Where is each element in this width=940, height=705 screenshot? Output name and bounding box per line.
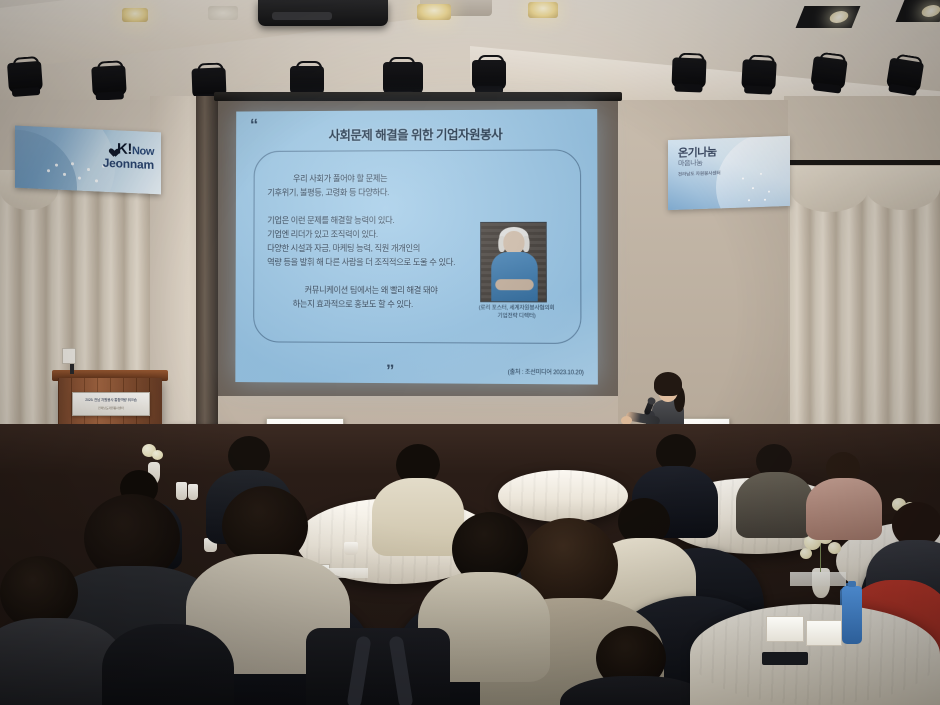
curtain-valance-right bbox=[866, 166, 940, 210]
downlight-icon bbox=[528, 2, 558, 18]
stage-light-icon bbox=[7, 61, 43, 93]
stage-light-icon bbox=[472, 60, 506, 90]
presenter-hair bbox=[654, 372, 682, 396]
slide-attribution-line2: 기업전략 디렉터) bbox=[466, 313, 567, 322]
slide-line-7: 커뮤니케이션 팀에서는 왜 빨리 해결 돼야 bbox=[305, 284, 438, 296]
ceiling-slot-light bbox=[796, 6, 861, 28]
banner-right-logo: 온기나눔 마음나눔 전라남도 자원봉사센터 bbox=[678, 146, 721, 176]
slide-attribution: (로리 포스터, 세계자원봉사협의회 기업전략 디렉터) bbox=[466, 304, 567, 321]
slide-line-3: 기업은 이런 문제를 해결할 능력이 있다. bbox=[267, 214, 394, 226]
flower-bloom bbox=[800, 548, 812, 559]
name-card bbox=[806, 620, 842, 646]
slide-line-6: 역량 등을 발휘 해 다른 사람을 더 조직적으로 도울 수 있다. bbox=[267, 256, 455, 268]
flower-bloom bbox=[828, 542, 841, 554]
banner-jeonnam-text: Jeonnam bbox=[103, 156, 154, 171]
slide-line-8: 하는지 효과적으로 홍보도 할 수 있다. bbox=[293, 298, 413, 310]
slide-line-4: 기업엔 리더가 있고 조직력이 있다. bbox=[267, 228, 378, 240]
name-card bbox=[766, 616, 804, 642]
ceiling-slot-light bbox=[896, 0, 940, 22]
stage-light-icon bbox=[810, 56, 847, 90]
slide-line-1: 우리 사회가 풀어야 할 문제는 bbox=[293, 172, 387, 184]
banner-right-logo-sub: 마음나눔 bbox=[678, 159, 721, 169]
projection-screen-rail bbox=[214, 92, 622, 101]
banner-volunteer-center: 온기나눔 마음나눔 전라남도 자원봉사센터 bbox=[668, 136, 790, 210]
stage-light-icon bbox=[741, 59, 777, 91]
stage-light-icon bbox=[671, 57, 706, 88]
podium-name-card bbox=[62, 348, 76, 364]
paper-handout bbox=[790, 572, 846, 586]
cup bbox=[188, 484, 198, 500]
presentation-slide: 사회문제 해결을 위한 기업자원봉사 “ ” 우리 사회가 풀어야 할 문제는 … bbox=[235, 109, 598, 384]
downlight-icon bbox=[122, 8, 148, 22]
curtain-right bbox=[790, 190, 940, 436]
wall-column-divider bbox=[196, 96, 218, 436]
water-bottle bbox=[842, 586, 862, 644]
banner-ok-now-jeonnam: K!Now Jeonnam bbox=[15, 126, 161, 195]
slide-attribution-line1: (로리 포스터, 세계자원봉사협의회 bbox=[466, 304, 567, 313]
slide-line-5: 다양한 시설과 자금, 마케팅 능력, 직원 개개인의 bbox=[267, 242, 420, 254]
banner-dots-decor bbox=[47, 159, 107, 186]
flower-bloom bbox=[152, 450, 163, 460]
conference-hall-photo: K!Now Jeonnam 온기나눔 마음나눔 전라남도 자원봉사센터 사회문제… bbox=[0, 0, 940, 705]
quote-open-icon: “ bbox=[250, 115, 258, 135]
cup bbox=[176, 482, 187, 500]
backpack bbox=[306, 628, 450, 705]
stage-light-icon bbox=[91, 65, 127, 97]
stage-light-icon bbox=[886, 58, 924, 93]
banner-right-logo-tiny: 전라남도 자원봉사센터 bbox=[678, 170, 721, 177]
stage-light-icon bbox=[383, 62, 423, 95]
smartphone bbox=[762, 652, 808, 665]
slide-source: (출처 : 조선미디어 2023.10.20) bbox=[508, 367, 584, 377]
banner-left-text: K!Now Jeonnam bbox=[103, 141, 154, 172]
downlight-icon bbox=[417, 4, 451, 20]
podium-sign: 2025. 전남 자원봉사 통합역량 워크숍 전라남도자원봉사센터 bbox=[72, 392, 150, 416]
heart-icon bbox=[108, 145, 117, 154]
slide-portrait-photo bbox=[480, 222, 547, 303]
curtain-rail bbox=[786, 160, 940, 172]
curtain-valance-right bbox=[790, 166, 868, 212]
cup bbox=[344, 542, 358, 555]
banner-now-text: Now bbox=[132, 145, 154, 158]
podium-sign-line1: 2025. 전남 자원봉사 통합역량 워크숍 bbox=[85, 398, 137, 403]
quote-close-icon: ” bbox=[386, 361, 395, 381]
banner-swoosh-decor bbox=[716, 136, 790, 210]
slide-title: 사회문제 해결을 위한 기업자원봉사 bbox=[236, 123, 597, 144]
podium-sign-line2: 전라남도자원봉사센터 bbox=[98, 406, 124, 410]
slide-line-2: 기후위기, 불평등, 고령화 등 다양하다. bbox=[267, 186, 389, 198]
banner-right-logo-main: 온기나눔 bbox=[678, 146, 721, 160]
projector bbox=[258, 0, 388, 26]
